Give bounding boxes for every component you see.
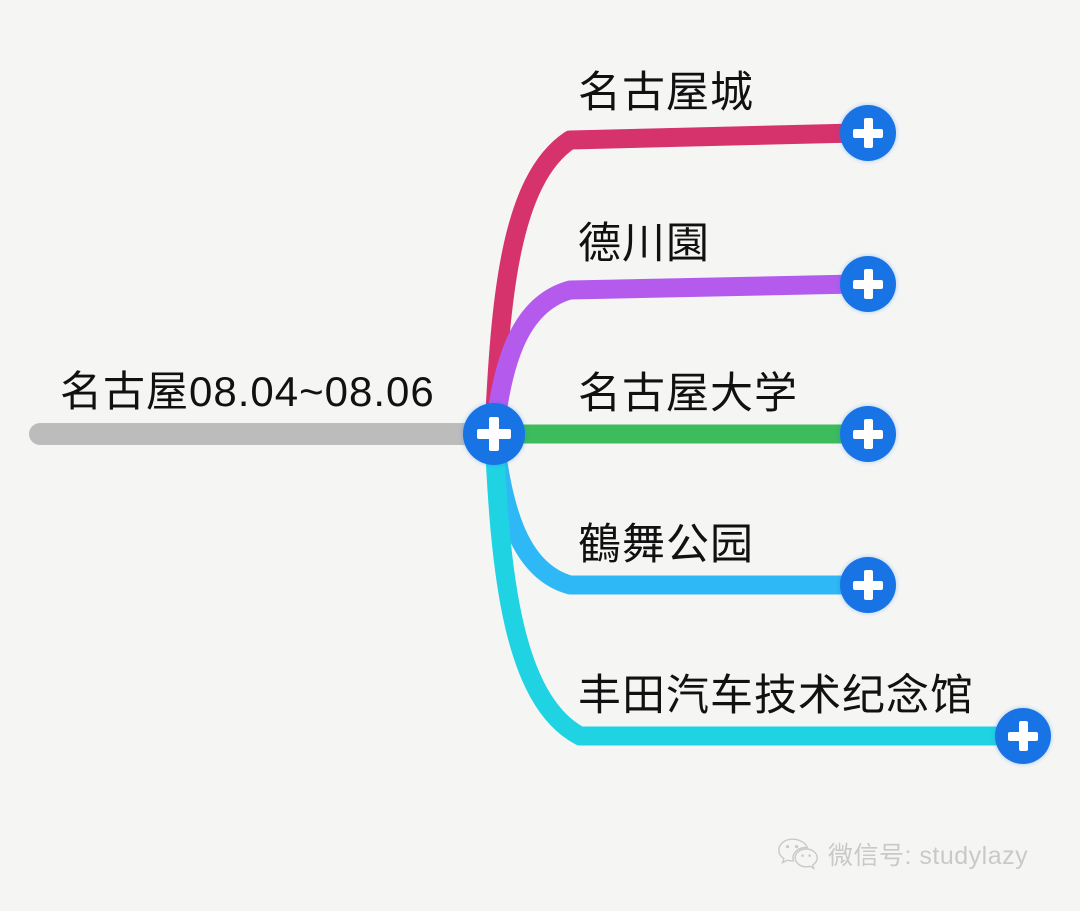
branch-endpoint-plus-icon-3[interactable] — [840, 557, 896, 613]
branch-label-3: 鶴舞公园 — [578, 510, 754, 572]
watermark: 微信号: studylazy — [778, 836, 1028, 872]
branch-label-0: 名古屋城 — [578, 58, 754, 120]
watermark-text: 微信号: studylazy — [828, 836, 1028, 872]
branch-endpoint-plus-icon-2[interactable] — [840, 406, 896, 462]
mindmap-canvas — [0, 0, 1080, 911]
wechat-icon — [778, 838, 818, 871]
root-node-label: 名古屋08.04~08.06 — [60, 358, 435, 419]
branch-label-4: 丰田汽车技术纪念馆 — [578, 661, 974, 723]
branch-endpoint-plus-icon-4[interactable] — [995, 708, 1051, 764]
hub-plus-icon[interactable] — [463, 403, 525, 465]
branch-label-1: 德川園 — [578, 209, 710, 271]
branch-endpoint-plus-icon-1[interactable] — [840, 256, 896, 312]
branch-label-2: 名古屋大学 — [578, 359, 798, 421]
branch-endpoint-plus-icon-0[interactable] — [840, 105, 896, 161]
